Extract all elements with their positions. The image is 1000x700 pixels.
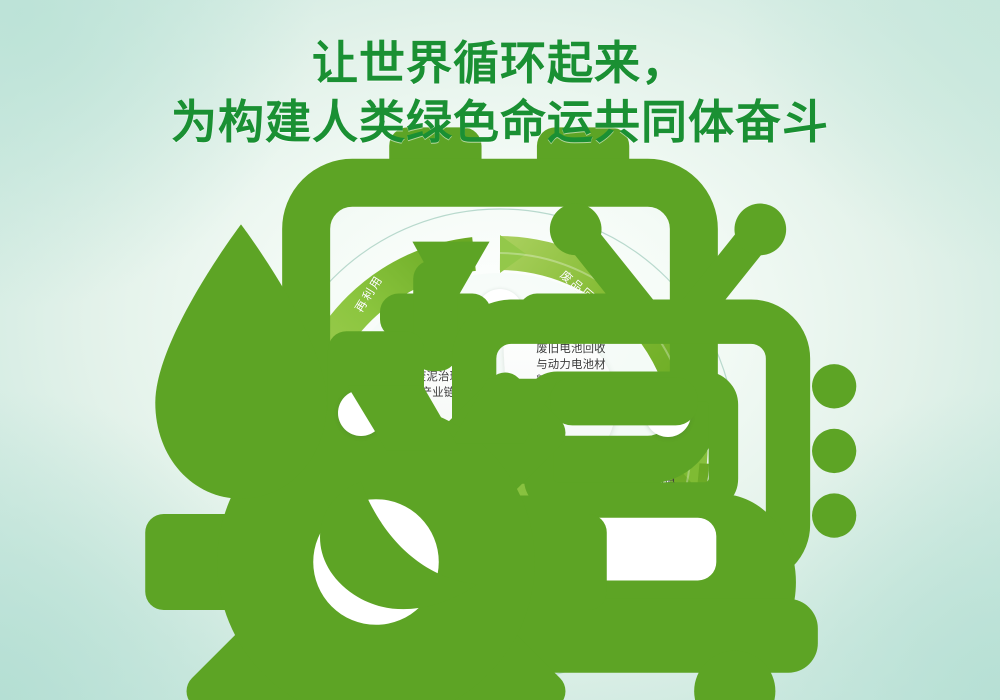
circular-industry-chain-diagram: 废旧电池回收 与动力电池材 料制造产业链 废水、废渣、 废泥治理 产业链 电子废…	[260, 205, 740, 685]
title-line-1: 让世界循环起来，	[0, 34, 1000, 93]
poster-canvas: 让世界循环起来， 为构建人类绿色命运共同体奋斗	[0, 0, 1000, 700]
page-title: 让世界循环起来， 为构建人类绿色命运共同体奋斗	[0, 34, 1000, 152]
icon-bubble-water-recycle[interactable]	[338, 390, 384, 436]
water-recycle-icon	[121, 173, 601, 653]
title-line-2: 为构建人类绿色命运共同体奋斗	[0, 93, 1000, 152]
